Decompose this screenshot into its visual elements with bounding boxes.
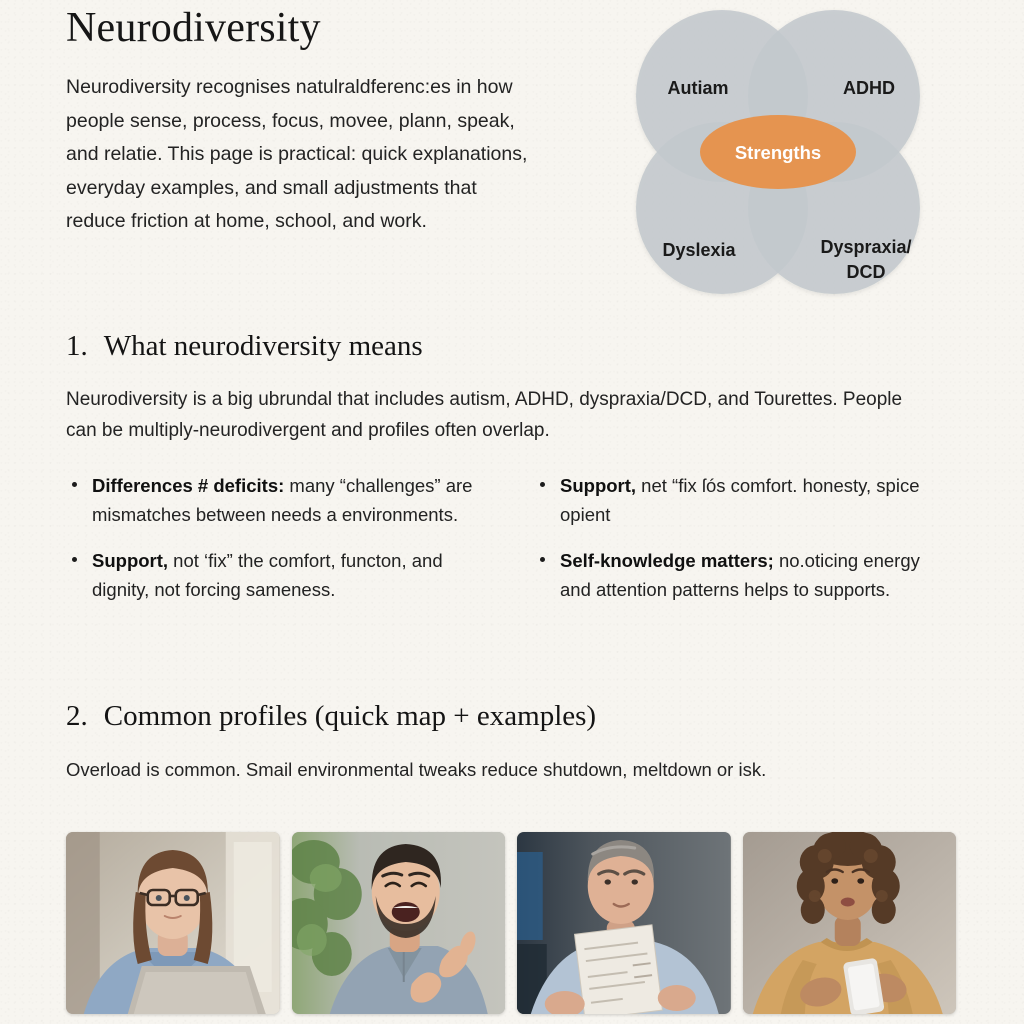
- photo-young-woman-looking-at-phone: [743, 832, 957, 1014]
- section-2-number: 2.: [66, 700, 88, 733]
- venn-label-dyslexia: Dyslexia: [662, 240, 736, 260]
- bullet-lead-text: Support,: [560, 475, 636, 496]
- list-item: Differences # deficits: many “challenges…: [66, 471, 496, 529]
- photo-older-man-reading-document-concerned: [517, 832, 731, 1014]
- section-2-lede: Overload is common. Smail environmental …: [66, 755, 956, 785]
- bullet-list-right: Support, net “fix ſós comfort. honesty, …: [534, 471, 944, 605]
- bullet-columns: Differences # deficits: many “challenges…: [66, 471, 946, 605]
- hero-block: Neurodiversity Neurodiversity recognises…: [66, 6, 566, 239]
- venn-diagram: Autiam ADHD Dyslexia Dyspraxia/ DCD Stre…: [618, 8, 938, 303]
- bullet-lead-text: Support,: [92, 550, 168, 571]
- bullet-list-left: Differences # deficits: many “challenges…: [66, 471, 496, 605]
- venn-label-strengths: Strengths: [735, 142, 821, 163]
- photo-laughing-bearded-man-gesturing: [292, 832, 506, 1014]
- section-1-title: What neurodiversity means: [104, 330, 946, 363]
- bullet-lead-text: Self-knowledge matters;: [560, 550, 774, 571]
- page-title: Neurodiversity: [66, 6, 566, 51]
- venn-label-dyspraxia: Dyspraxia/: [820, 237, 911, 257]
- photo-woman-with-glasses-at-laptop: [66, 832, 280, 1014]
- intro-paragraph: Neurodiversity recognises natulraldferen…: [66, 71, 536, 239]
- section-2-heading: 2. Common profiles (quick map + examples…: [66, 700, 956, 733]
- venn-label-autism: Autiam: [667, 78, 728, 98]
- photo-strip: [66, 832, 956, 1014]
- bullet-lead-text: Differences # deficits:: [92, 475, 284, 496]
- bullet-column-left: Differences # deficits: many “challenges…: [66, 471, 496, 605]
- section-common-profiles: 2. Common profiles (quick map + examples…: [66, 700, 956, 785]
- section-what-neurodiversity-means: 1. What neurodiversity means Neurodivers…: [66, 330, 946, 604]
- section-1-number: 1.: [66, 330, 88, 363]
- venn-label-adhd: ADHD: [843, 78, 895, 98]
- venn-label-dyspraxia-line2: DCD: [847, 262, 886, 282]
- document-page: Neurodiversity Neurodiversity recognises…: [0, 0, 1024, 1024]
- list-item: Support, net “fix ſós comfort. honesty, …: [534, 471, 944, 529]
- list-item: Support, not ‘fix” the comfort, functon,…: [66, 546, 496, 604]
- section-1-lede: Neurodiversity is a big ubrundal that in…: [66, 385, 926, 447]
- section-2-title: Common profiles (quick map + examples): [104, 700, 956, 733]
- list-item: Self-knowledge matters; no.oticing energ…: [534, 546, 944, 604]
- bullet-column-right: Support, net “fix ſós comfort. honesty, …: [534, 471, 944, 605]
- section-1-heading: 1. What neurodiversity means: [66, 330, 946, 363]
